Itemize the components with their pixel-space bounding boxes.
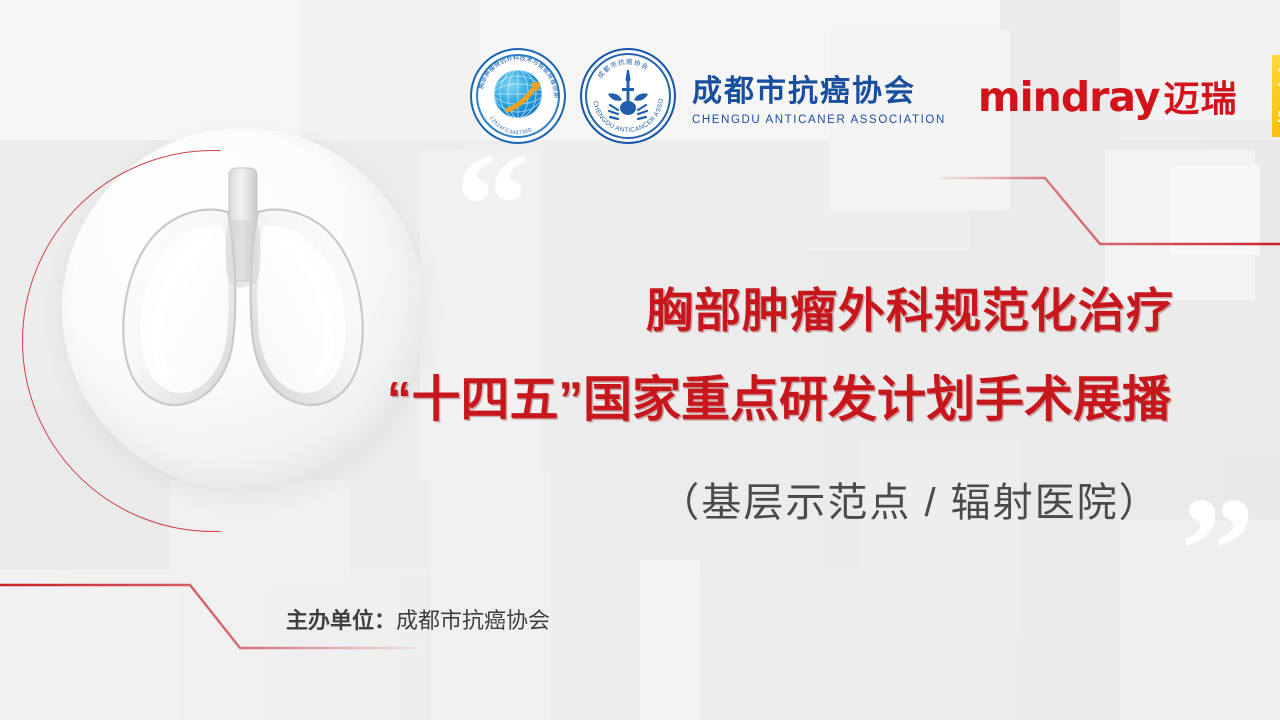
host-label: 主办单位： <box>286 608 396 633</box>
medical-cross-watermark-icon <box>30 590 180 720</box>
seal-ring-text: 成都市抗癌协会 CHENGDU ANTICANCER ASSOCIATION <box>582 50 674 142</box>
association-name-cn: 成都市抗癌协会 <box>692 66 946 110</box>
svg-text:13524FC340730D: 13524FC340730D <box>488 115 533 136</box>
association-wordmark: 成都市抗癌协会 CHENGDU ANTICANER ASSOCIATION <box>692 66 946 126</box>
chengdu-anticancer-seal-icon: 成都市抗癌协会 CHENGDU ANTICANCER ASSOCIATION <box>580 48 676 144</box>
sponsor-logo-bar: 胸部肿瘤微创外科技术与智能装备创新研发与应用 13524FC340730D <box>470 46 1280 146</box>
background-rect <box>540 140 970 250</box>
title-line-1: 胸部肿瘤外科规范化治疗 <box>610 272 1210 341</box>
title-line-2: “十四五”国家重点研发计划手术展播 <box>348 360 1210 431</box>
seal-ring-text: 胸部肿瘤微创外科技术与智能装备创新研发与应用 13524FC340730D <box>472 50 564 142</box>
mindray-logo: mindray 迈瑞 <box>978 70 1238 122</box>
university-hospital-logo: 大 医 學 院 <box>1272 55 1280 137</box>
presentation-slide: “ ” <box>0 0 1280 720</box>
mindray-name-en: mindray <box>978 73 1160 121</box>
svg-text:胸部肿瘤微创外科技术与智能装备创新研发与应用: 胸部肿瘤微创外科技术与智能装备创新研发与应用 <box>472 50 560 99</box>
host-organization: 主办单位：成都市抗癌协会 <box>286 603 550 635</box>
background-rect <box>640 560 700 720</box>
globe-seal-emblem-icon: 胸部肿瘤微创外科技术与智能装备创新研发与应用 13524FC340730D <box>470 48 566 144</box>
background-rect <box>430 470 550 720</box>
background-rect <box>860 440 1020 630</box>
svg-text:成都市抗癌协会: 成都市抗癌协会 <box>595 57 650 80</box>
host-value: 成都市抗癌协会 <box>396 608 550 633</box>
mindray-name-cn: 迈瑞 <box>1164 70 1238 122</box>
subtitle-line: （基层示范点 / 辐射医院） <box>610 470 1210 528</box>
background-rect <box>300 0 480 120</box>
quote-open-mark: “ <box>455 130 530 280</box>
association-name-en: CHENGDU ANTICANER ASSOCIATION <box>692 114 946 126</box>
medical-cross-watermark-icon <box>1170 165 1260 255</box>
background-rect <box>0 0 300 140</box>
